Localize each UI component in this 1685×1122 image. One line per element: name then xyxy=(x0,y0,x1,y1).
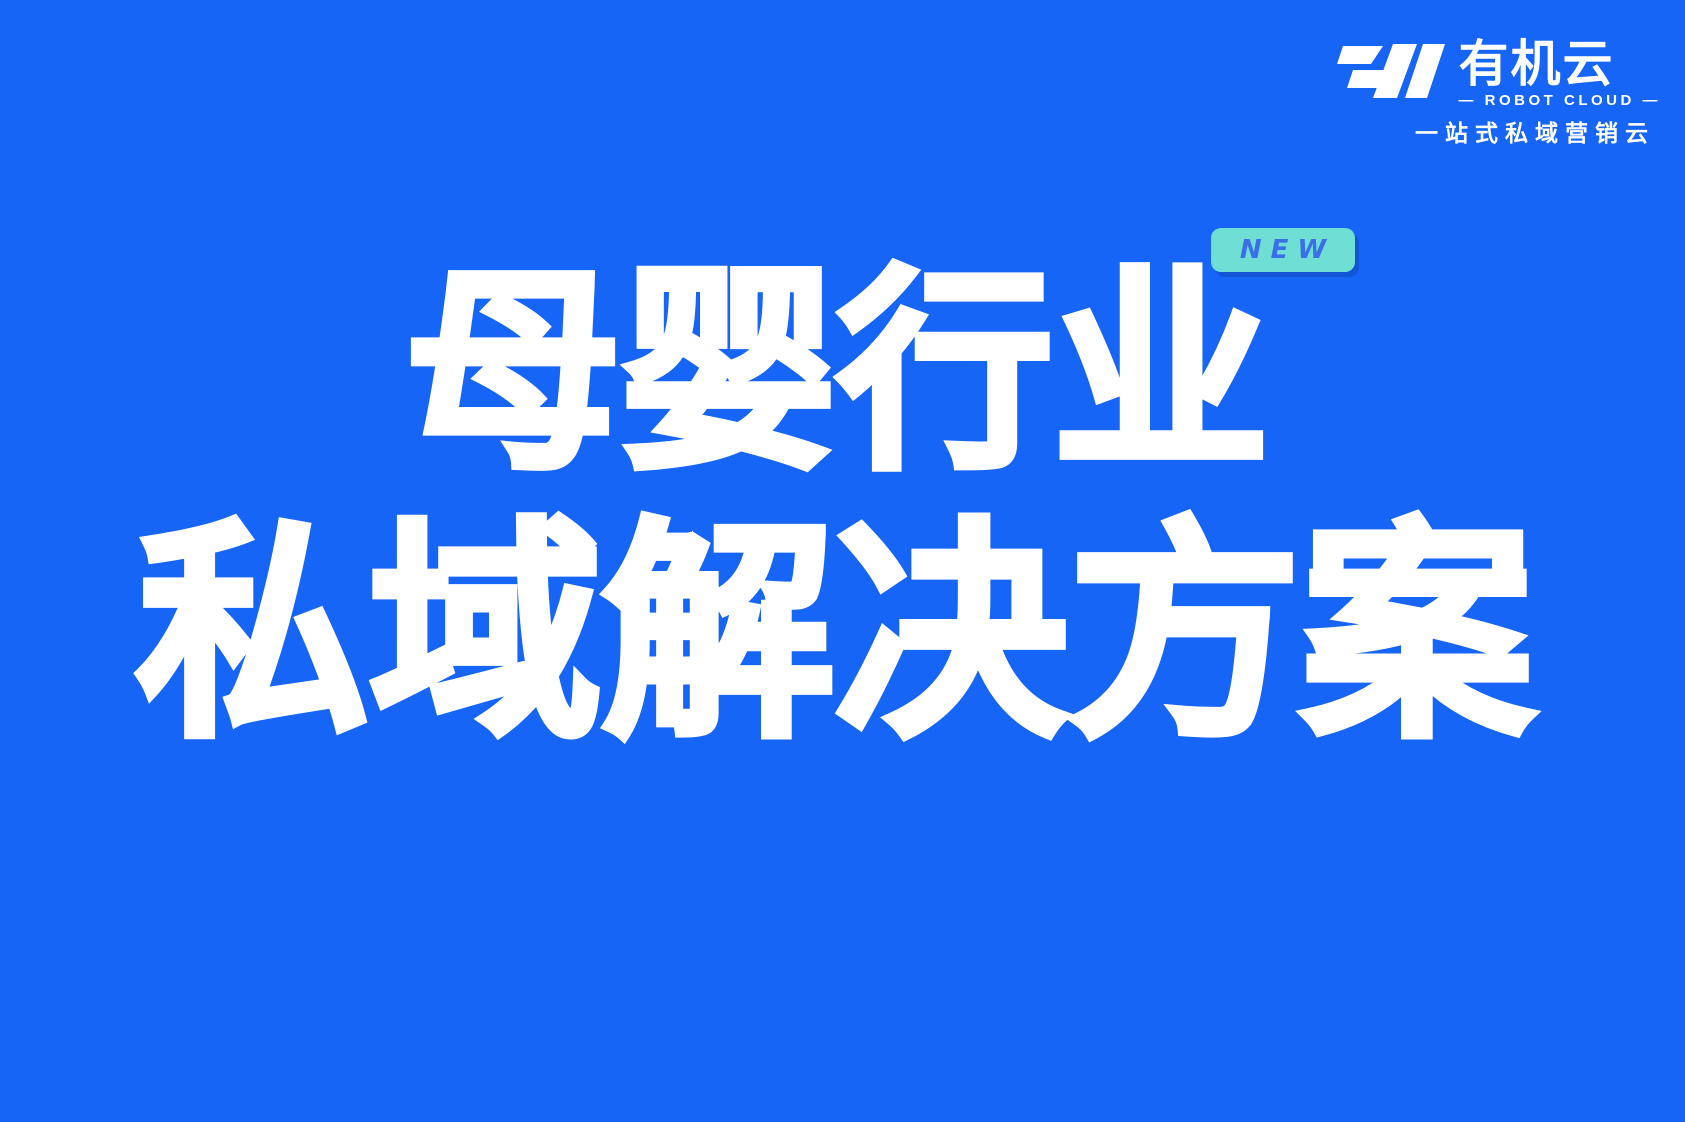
headline-line-1: 母婴行业 xyxy=(0,258,1685,488)
brand-wordmark: 有机云 — ROBOT CLOUD — xyxy=(1459,38,1662,109)
robot-cloud-mark-icon xyxy=(1337,40,1449,102)
brand-name-cn: 有机云 xyxy=(1459,38,1615,90)
headline-line-2: 私域解决方案 xyxy=(0,510,1685,758)
brand-block: 有机云 — ROBOT CLOUD — 一站式私域营销云 xyxy=(1191,38,1661,147)
poster-canvas: 有机云 — ROBOT CLOUD — 一站式私域营销云 NEW 母婴行业 私域… xyxy=(0,0,1685,1122)
brand-tagline: 一站式私域营销云 xyxy=(1415,121,1655,147)
brand-lockup: 有机云 — ROBOT CLOUD — xyxy=(1337,38,1662,109)
brand-name-en: — ROBOT CLOUD — xyxy=(1459,92,1662,109)
headline-block: 母婴行业 私域解决方案 xyxy=(0,258,1685,758)
